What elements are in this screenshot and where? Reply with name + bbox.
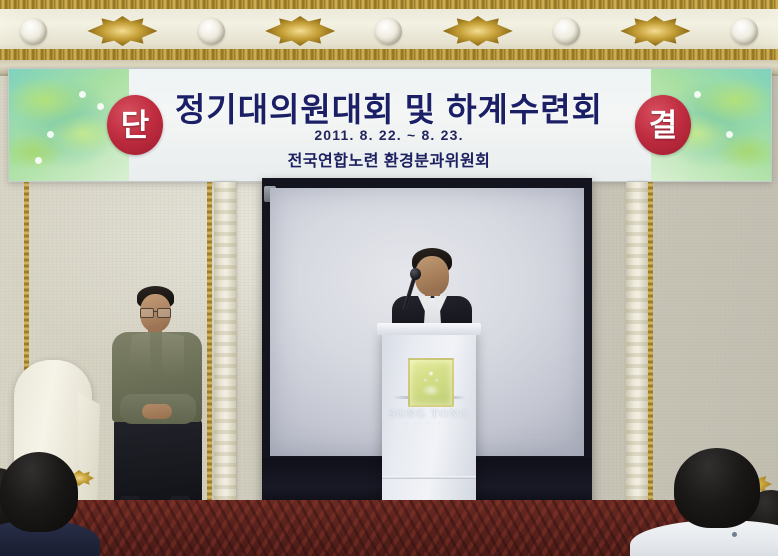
podium-seam <box>382 476 476 479</box>
leaf-highlight-dot <box>726 131 733 138</box>
ceiling-frieze <box>0 0 778 60</box>
eyeglasses-icon <box>140 308 171 317</box>
frieze-ornament-row <box>0 12 778 50</box>
seated-man-hands <box>142 404 172 419</box>
conference-hall-photo: 단 결 정기대의원대회 및 하계수련회 2011. 8. 22. ~ 8. 23… <box>0 0 778 556</box>
hotel-logo-subtext: H O T E L <box>382 422 476 428</box>
seal-gyeol: 결 <box>635 95 691 155</box>
shirt-collar-button <box>732 532 737 537</box>
leaf-highlight-dot <box>97 103 104 110</box>
banner-date: 2011. 8. 22. ~ 8. 23. <box>169 127 609 143</box>
white-medallion-icon <box>375 18 402 45</box>
audience-head <box>0 452 78 532</box>
hotel-logo-icon <box>408 358 454 407</box>
audience-member-left <box>0 452 86 556</box>
frieze-gold-edge-bottom <box>0 49 778 60</box>
leaf-highlight-dot <box>35 157 42 164</box>
gold-rosette-icon <box>87 16 157 46</box>
pilaster-pattern <box>214 182 236 500</box>
banner-title: 정기대의원대회 및 하계수련회 <box>169 83 609 131</box>
pilaster-pattern <box>626 182 648 500</box>
eyeglass-lens-right <box>157 308 171 318</box>
event-banner: 단 결 정기대의원대회 및 하계수련회 2011. 8. 22. ~ 8. 23… <box>8 68 772 182</box>
microphone-head-icon <box>410 268 421 280</box>
white-medallion-icon <box>198 18 225 45</box>
audience-head <box>674 448 760 528</box>
leaf-highlight-dot <box>79 91 86 98</box>
gold-rosette-icon <box>443 16 513 46</box>
seal-dan: 단 <box>107 95 163 155</box>
eyeglass-lens-left <box>140 308 154 318</box>
wall-pilaster-left <box>214 182 236 500</box>
banner-organization: 전국연합노련 환경분과위원회 <box>169 147 609 171</box>
frieze-gold-edge-top <box>0 0 778 9</box>
hotel-logo-wordmark: SONG TONG <box>382 408 476 420</box>
gold-rosette-icon <box>265 16 335 46</box>
leaf-highlight-dot <box>694 91 701 98</box>
leaf-highlight-dot <box>47 131 54 138</box>
white-medallion-icon <box>731 18 758 45</box>
podium-top-surface <box>377 323 481 335</box>
gold-rosette-icon <box>620 16 690 46</box>
hotel-logo-glyph <box>418 369 444 397</box>
white-medallion-icon <box>553 18 580 45</box>
white-medallion-icon <box>20 18 47 45</box>
wall-pilaster-right <box>626 182 648 500</box>
audience-member-white-shirt <box>646 448 778 556</box>
